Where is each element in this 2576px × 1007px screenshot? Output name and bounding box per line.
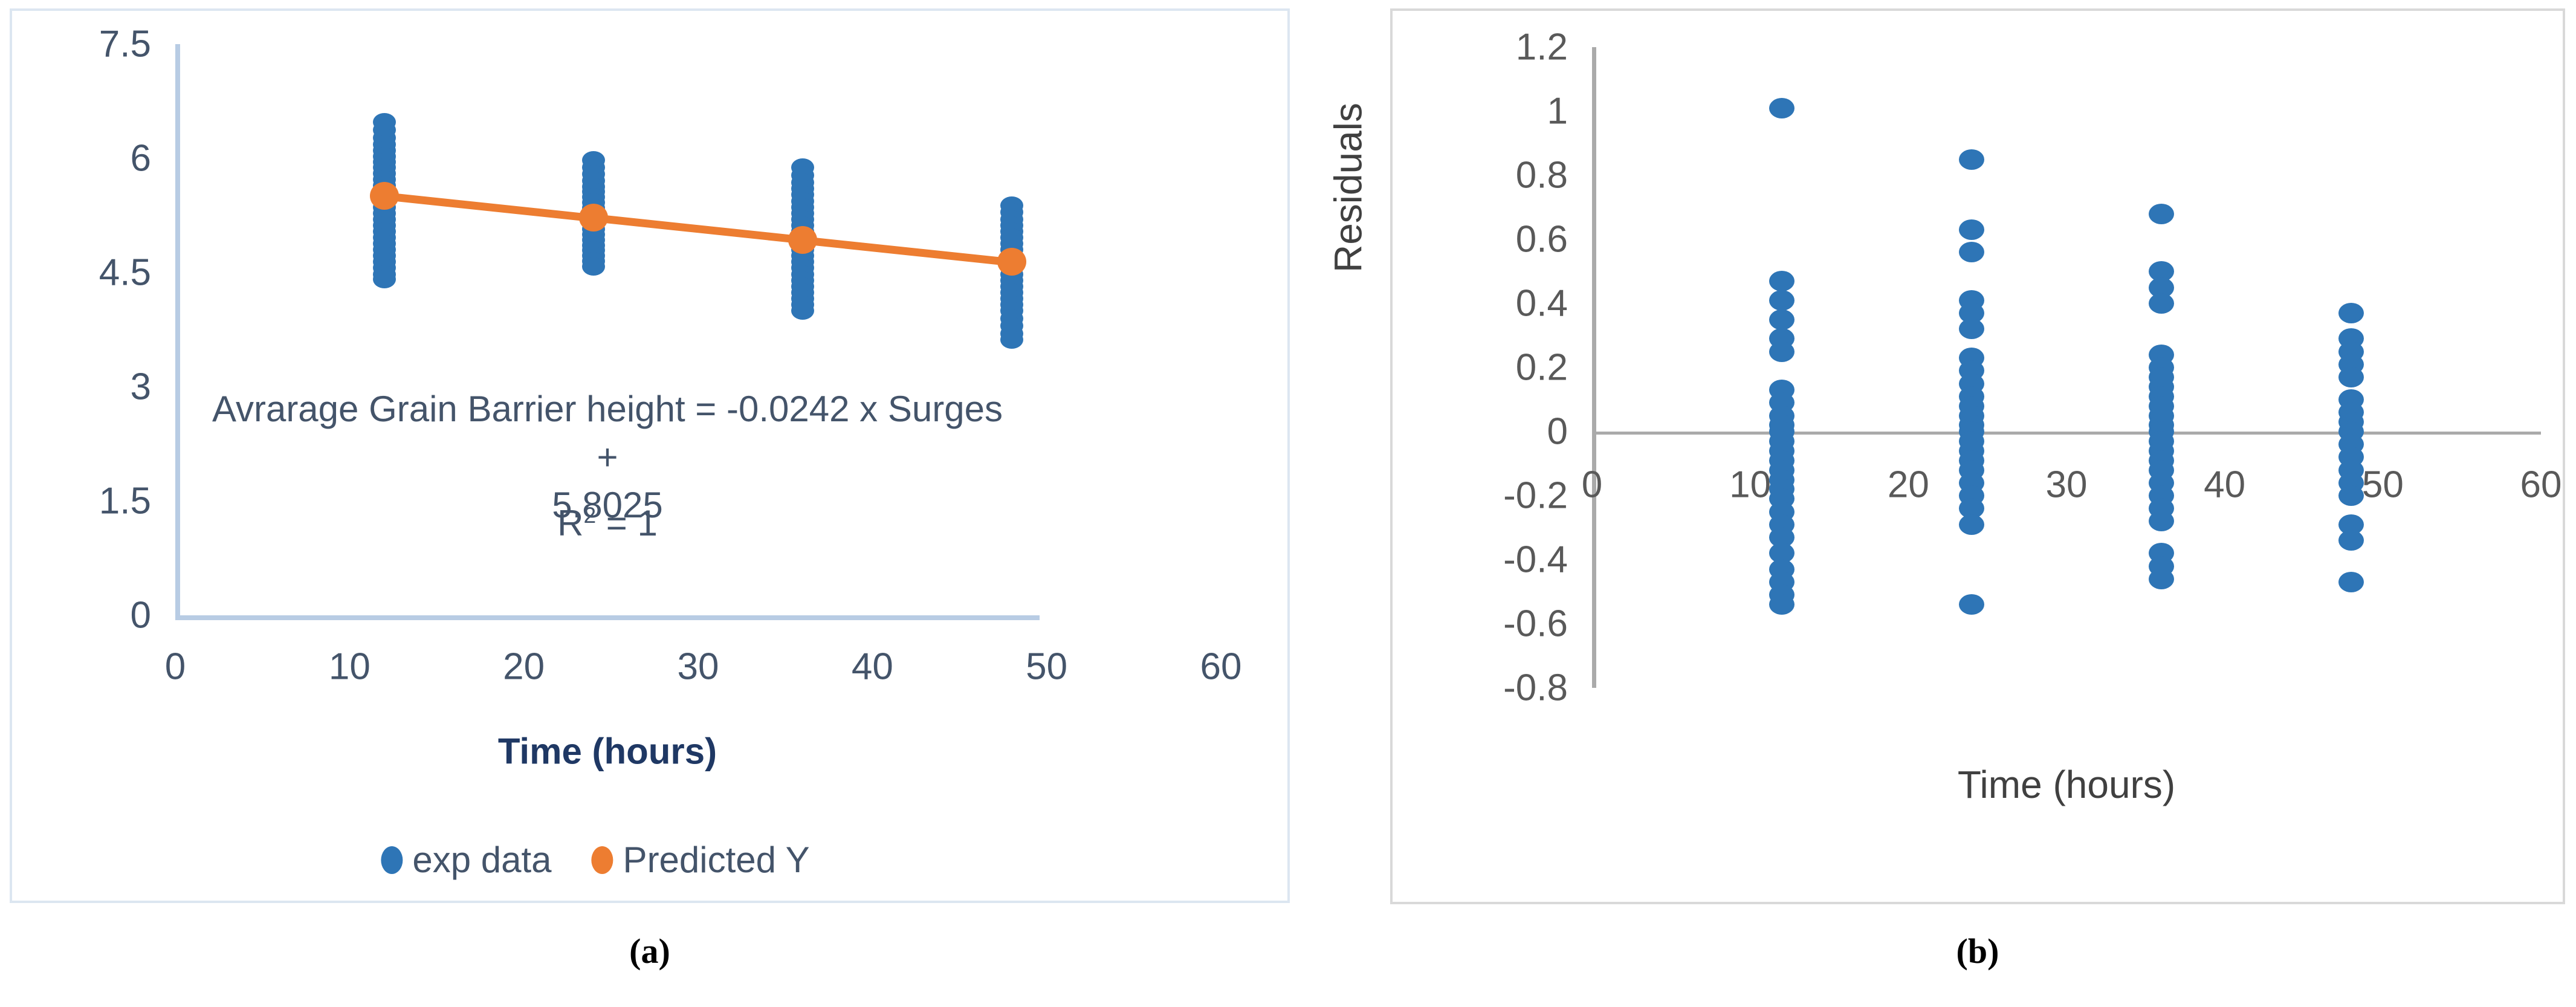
zero-line-b: [1592, 432, 2541, 435]
data-point-residual: [1769, 271, 1794, 291]
legend-marker-circle-marker: [381, 846, 403, 874]
x-tick-label-b: 0: [1582, 464, 1602, 507]
y-tick-label-b: -0.8: [1503, 667, 1568, 710]
data-point-residual: [1769, 342, 1794, 362]
x-tick-label-b: 40: [2204, 464, 2245, 507]
data-point-residual: [1959, 149, 1984, 170]
data-point-residual: [1959, 219, 1984, 240]
caption-a: (a): [10, 931, 1290, 971]
data-point-residual: [2338, 530, 2364, 551]
x-tick-label-b: 30: [2046, 464, 2088, 507]
data-point-residual: [2149, 293, 2174, 314]
predicted-trend-line: [384, 192, 594, 222]
data-point-exp: [1000, 331, 1023, 349]
x-axis-title-a: Time (hours): [498, 731, 717, 772]
data-point-residual: [2338, 303, 2364, 323]
y-tick-label-b: 1: [1547, 90, 1568, 133]
y-axis-line-a: [175, 44, 180, 615]
panel-b-plot-area: -0.8-0.6-0.4-0.200.20.40.60.811.20102030…: [1393, 11, 2563, 902]
data-point-predicted: [370, 182, 399, 210]
r-squared-exponent: 2: [583, 502, 596, 528]
panel-b-chart-container: -0.8-0.6-0.4-0.200.20.40.60.811.20102030…: [1390, 8, 2565, 904]
data-point-predicted: [788, 226, 817, 254]
data-point-residual: [2149, 569, 2174, 589]
r-squared-prefix: R: [557, 503, 583, 543]
legend-marker-circle-marker: [592, 846, 613, 874]
data-point-residual: [1769, 594, 1794, 615]
data-point-residual: [2338, 485, 2364, 506]
data-point-residual: [1959, 242, 1984, 262]
y-tick-label-b: 0.2: [1516, 346, 1568, 389]
x-axis-line-a: [175, 615, 1040, 620]
x-tick-label-a: 40: [852, 646, 893, 688]
x-tick-label-a: 50: [1026, 646, 1067, 688]
data-point-residual: [1769, 309, 1794, 330]
y-tick-label-b: 0: [1547, 410, 1568, 453]
legend-item-1[interactable]: Predicted Y: [592, 839, 810, 881]
y-tick-label-a: 4.5: [99, 251, 151, 294]
y-tick-label-a: 6: [131, 137, 151, 180]
data-point-residual: [2149, 511, 2174, 531]
legend-item-0[interactable]: exp data: [381, 839, 551, 881]
data-point-predicted: [997, 248, 1026, 276]
legend-label: exp data: [412, 839, 551, 881]
data-point-residual: [1959, 514, 1984, 535]
y-tick-label-a: 0: [131, 594, 151, 637]
data-point-residual: [2149, 204, 2174, 224]
panel-a-chart-container: 01.534.567.50102030405060Average grain h…: [10, 8, 1290, 903]
chart-legend-a: exp dataPredicted Y: [381, 839, 833, 881]
panel-a-plot-area: 01.534.567.50102030405060Average grain h…: [12, 11, 1287, 901]
predicted-trend-line: [593, 214, 803, 244]
x-tick-label-a: 60: [1200, 646, 1242, 688]
r-squared-value: = 1: [596, 503, 658, 543]
y-axis-title-b-text: Residuals: [1325, 103, 1370, 273]
y-tick-label-b: 0.4: [1516, 282, 1568, 325]
y-tick-label-a: 7.5: [99, 23, 151, 66]
x-tick-label-b: 10: [1729, 464, 1771, 507]
x-tick-label-a: 10: [329, 646, 371, 688]
y-tick-label-b: -0.6: [1503, 603, 1568, 646]
x-tick-label-b: 60: [2520, 464, 2562, 507]
data-point-exp: [791, 302, 814, 320]
regression-equation-line1: Avrarage Grain Barrier height = -0.0242 …: [199, 385, 1015, 481]
data-point-residual: [1769, 290, 1794, 311]
x-tick-label-a: 30: [678, 646, 719, 688]
y-tick-label-b: -0.4: [1503, 539, 1568, 581]
y-axis-title-b: Residuals: [1325, 103, 1370, 273]
y-tick-label-b: 0.6: [1516, 218, 1568, 261]
x-tick-label-b: 50: [2362, 464, 2404, 507]
data-point-residual: [1959, 319, 1984, 339]
y-tick-label-a: 1.5: [99, 480, 151, 523]
x-axis-title-b: Time (hours): [1958, 762, 2175, 807]
legend-label: Predicted Y: [623, 839, 810, 881]
y-tick-label-b: 1.2: [1516, 26, 1568, 69]
y-tick-label-b: -0.2: [1503, 474, 1568, 517]
x-tick-label-a: 20: [503, 646, 545, 688]
r-squared-label-a: R2 = 1: [335, 499, 879, 547]
y-tick-label-b: 0.8: [1516, 154, 1568, 197]
data-point-exp: [373, 270, 396, 288]
x-tick-label-a: 0: [165, 646, 186, 688]
data-point-predicted: [579, 204, 608, 232]
caption-b: (b): [1390, 931, 2565, 971]
data-point-residual: [1959, 594, 1984, 615]
data-point-residual: [2338, 367, 2364, 387]
data-point-residual: [1769, 98, 1794, 118]
predicted-trend-line: [802, 236, 1012, 266]
data-point-exp: [582, 257, 605, 276]
x-tick-label-b: 20: [1888, 464, 1929, 507]
figure-root: 01.534.567.50102030405060Average grain h…: [0, 0, 2576, 1007]
y-axis-line-b: [1592, 47, 1596, 688]
data-point-residual: [2338, 572, 2364, 592]
y-tick-label-a: 3: [131, 366, 151, 409]
